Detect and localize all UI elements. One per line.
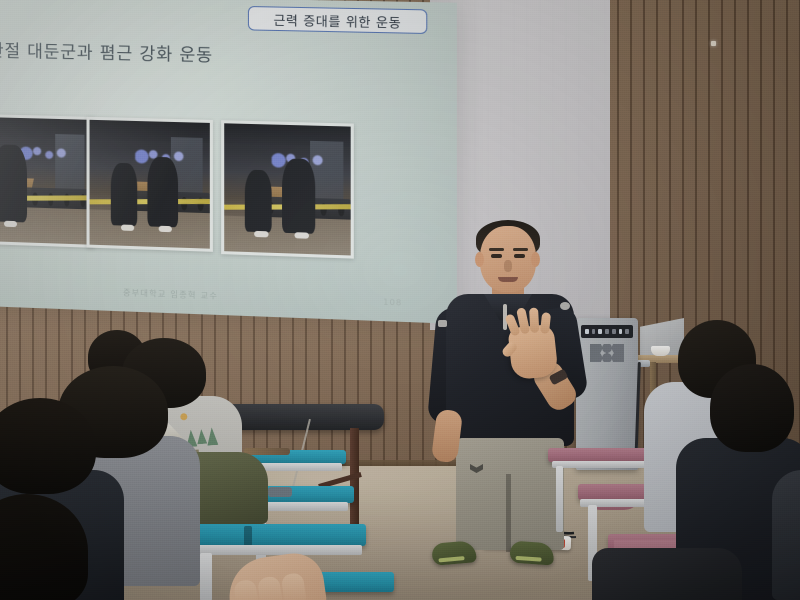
- wall-marker-dot: [711, 41, 716, 46]
- presenter-eye-right: [514, 254, 525, 258]
- desk-left-front-frame: [188, 545, 362, 555]
- presenter-brow-right: [513, 248, 528, 251]
- projected-slide: 근력 증대를 위한 운동 관절 대둔군과 폄근 강화 운동: [0, 0, 457, 324]
- dark-bag: [592, 548, 742, 600]
- presenter-shoe-left: [431, 540, 477, 566]
- desk-left-front-slot: [244, 526, 252, 546]
- desk-left-front-leg: [200, 553, 212, 600]
- student-dark-right-head: [710, 364, 794, 452]
- slide-subtitle: 관절 대둔군과 폄근 강화 운동: [0, 36, 335, 69]
- slide-title-banner: 근력 증대를 위한 운동: [248, 6, 427, 34]
- slide-photo-2: [87, 117, 213, 252]
- presenter-eye-left: [491, 254, 502, 258]
- presenter-sleeve-logo: [438, 320, 447, 327]
- presenter-ear-right: [531, 252, 540, 267]
- presenter-shoulder-logo: [560, 302, 570, 310]
- lecture-hall-photo: 근력 증대를 위한 운동 관절 대둔군과 폄근 강화 운동: [0, 0, 800, 600]
- student-far-right-body: [772, 470, 800, 600]
- presenter-mouth: [498, 277, 518, 282]
- paper-cup: [651, 346, 670, 356]
- presenter-nose: [504, 260, 512, 272]
- slide-footer-text: 중부대학교 임종혁 교수: [123, 287, 218, 302]
- desk-left-front: [186, 524, 366, 546]
- slide-title-text: 근력 증대를 위한 운동: [273, 9, 401, 31]
- presenter-ear-left: [475, 252, 484, 267]
- desk-right-back-leg: [556, 466, 563, 532]
- slide-photo-3: [221, 120, 354, 258]
- pine-tree-icon: [206, 427, 218, 446]
- pen-on-desk: [268, 487, 292, 497]
- slide-photo-1: [0, 114, 95, 248]
- sun-icon: [180, 413, 187, 420]
- presenter-head: [480, 226, 536, 292]
- presenter-brow-left: [489, 248, 504, 251]
- pine-tree-icon: [196, 429, 207, 445]
- presenter-raised-hand: [507, 324, 558, 381]
- presenter-leg-split: [506, 474, 511, 552]
- slide-page-number: 108: [383, 298, 402, 308]
